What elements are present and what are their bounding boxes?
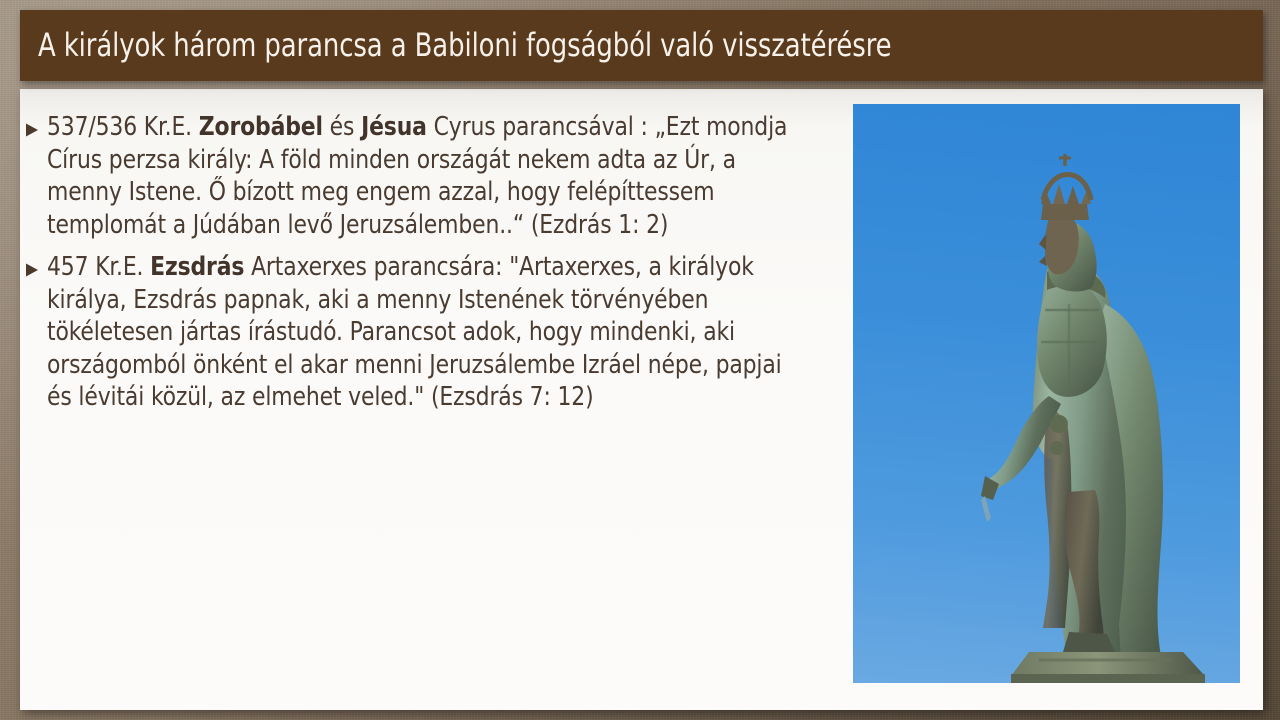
bullet-item: 537/536 Kr.E. Zorobábel és Jésua Cyrus p…	[24, 111, 844, 241]
slide-content-card: 537/536 Kr.E. Zorobábel és Jésua Cyrus p…	[20, 89, 1263, 710]
slide-body-text: 537/536 Kr.E. Zorobábel és Jésua Cyrus p…	[24, 111, 844, 424]
bronze-king-statue-photo	[853, 104, 1240, 683]
statue-illustration	[853, 104, 1240, 683]
bullet-text-2: 457 Kr.E. Ezsdrás Artaxerxes parancsára:…	[47, 251, 808, 414]
triangle-right-bullet-icon	[24, 122, 46, 138]
slide: A királyok három parancsa a Babiloni fog…	[0, 0, 1280, 720]
slide-title: A királyok három parancsa a Babiloni fog…	[38, 29, 891, 63]
bullet-item: 457 Kr.E. Ezsdrás Artaxerxes parancsára:…	[24, 251, 844, 414]
slide-title-bar: A királyok három parancsa a Babiloni fog…	[20, 10, 1263, 81]
bullet-text-1: 537/536 Kr.E. Zorobábel és Jésua Cyrus p…	[47, 111, 808, 241]
triangle-right-bullet-icon	[24, 262, 46, 278]
